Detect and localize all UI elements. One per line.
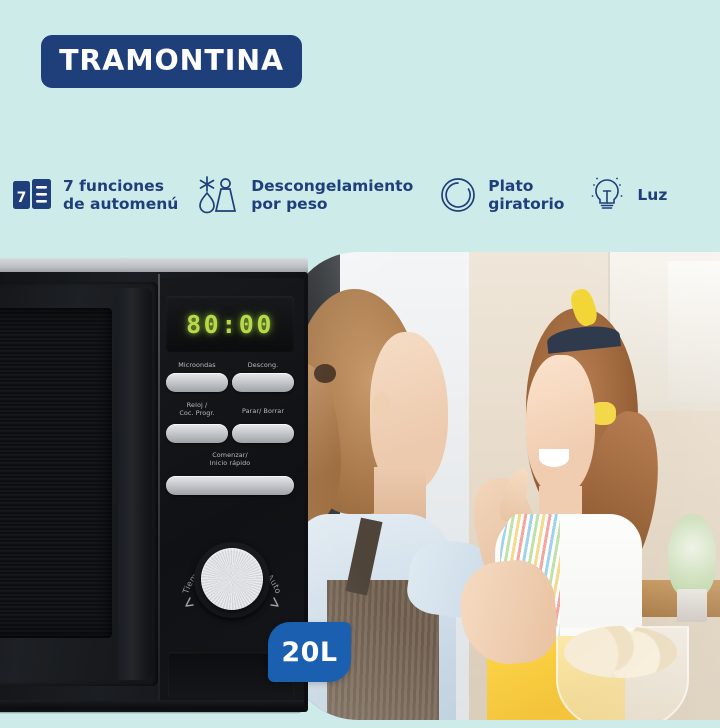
descongelar-button[interactable] bbox=[232, 373, 294, 392]
feature-defrost: Descongelamiento por peso bbox=[196, 152, 413, 238]
svg-text:7: 7 bbox=[17, 190, 27, 206]
parar-borrar-label: Parar/ Borrar bbox=[232, 408, 294, 416]
feature-list: 7 7 funciones de automenú Des bbox=[0, 152, 720, 238]
defrost-weight-icon bbox=[196, 173, 242, 217]
product-banner: TRAMONTINA 7 7 funciones de automenú bbox=[0, 0, 720, 720]
control-dial[interactable] bbox=[201, 548, 263, 610]
brand-logo-text: TRAMONTINA bbox=[59, 47, 284, 76]
photo-scene bbox=[288, 252, 720, 720]
microwave-base-shadow bbox=[0, 700, 304, 714]
microondas-label: Microondas bbox=[166, 362, 228, 370]
feature-automenu: 7 7 funciones de automenú bbox=[10, 152, 178, 238]
brand-logo-badge: TRAMONTINA bbox=[41, 35, 302, 88]
microwave-door-window bbox=[0, 308, 112, 638]
reloj-coccion-programada-button[interactable] bbox=[166, 424, 228, 443]
feature-automenu-label: 7 funciones de automenú bbox=[63, 177, 178, 214]
feature-turntable-label: Plato giratorio bbox=[488, 177, 564, 214]
comenzar-inicio-rapido-label: Comenzar/ Inicio rápido bbox=[166, 452, 294, 467]
feature-turntable: Plato giratorio bbox=[437, 152, 564, 238]
reloj-coccion-programada-label: Reloj / Coc. Progr. bbox=[166, 402, 228, 417]
descongelar-label: Descong. bbox=[232, 362, 294, 370]
display-value: 80:00 bbox=[186, 310, 274, 339]
lifestyle-photo bbox=[288, 252, 720, 720]
turntable-icon bbox=[437, 174, 479, 216]
lightbulb-icon bbox=[586, 173, 628, 217]
feature-light: Luz bbox=[586, 152, 667, 238]
comenzar-inicio-rapido-button[interactable] bbox=[166, 476, 294, 495]
microwave-oven: 80:00 Microondas Descong. Reloj / Coc. P… bbox=[0, 258, 308, 728]
parar-borrar-button[interactable] bbox=[232, 424, 294, 443]
feature-light-label: Luz bbox=[637, 186, 667, 204]
capacity-badge-label: 20L bbox=[281, 637, 337, 668]
microwave-dial-area[interactable]: Tiempo•Peso•Cocción Auto bbox=[176, 524, 288, 636]
feature-defrost-label: Descongelamiento por peso bbox=[251, 177, 413, 214]
microwave-display: 80:00 bbox=[166, 296, 294, 352]
capacity-badge: 20L bbox=[268, 622, 351, 682]
microwave-door-handle[interactable] bbox=[118, 288, 152, 680]
automenu-card-icon: 7 bbox=[10, 174, 54, 216]
microondas-button[interactable] bbox=[166, 373, 228, 392]
photo-vignette bbox=[288, 252, 720, 720]
